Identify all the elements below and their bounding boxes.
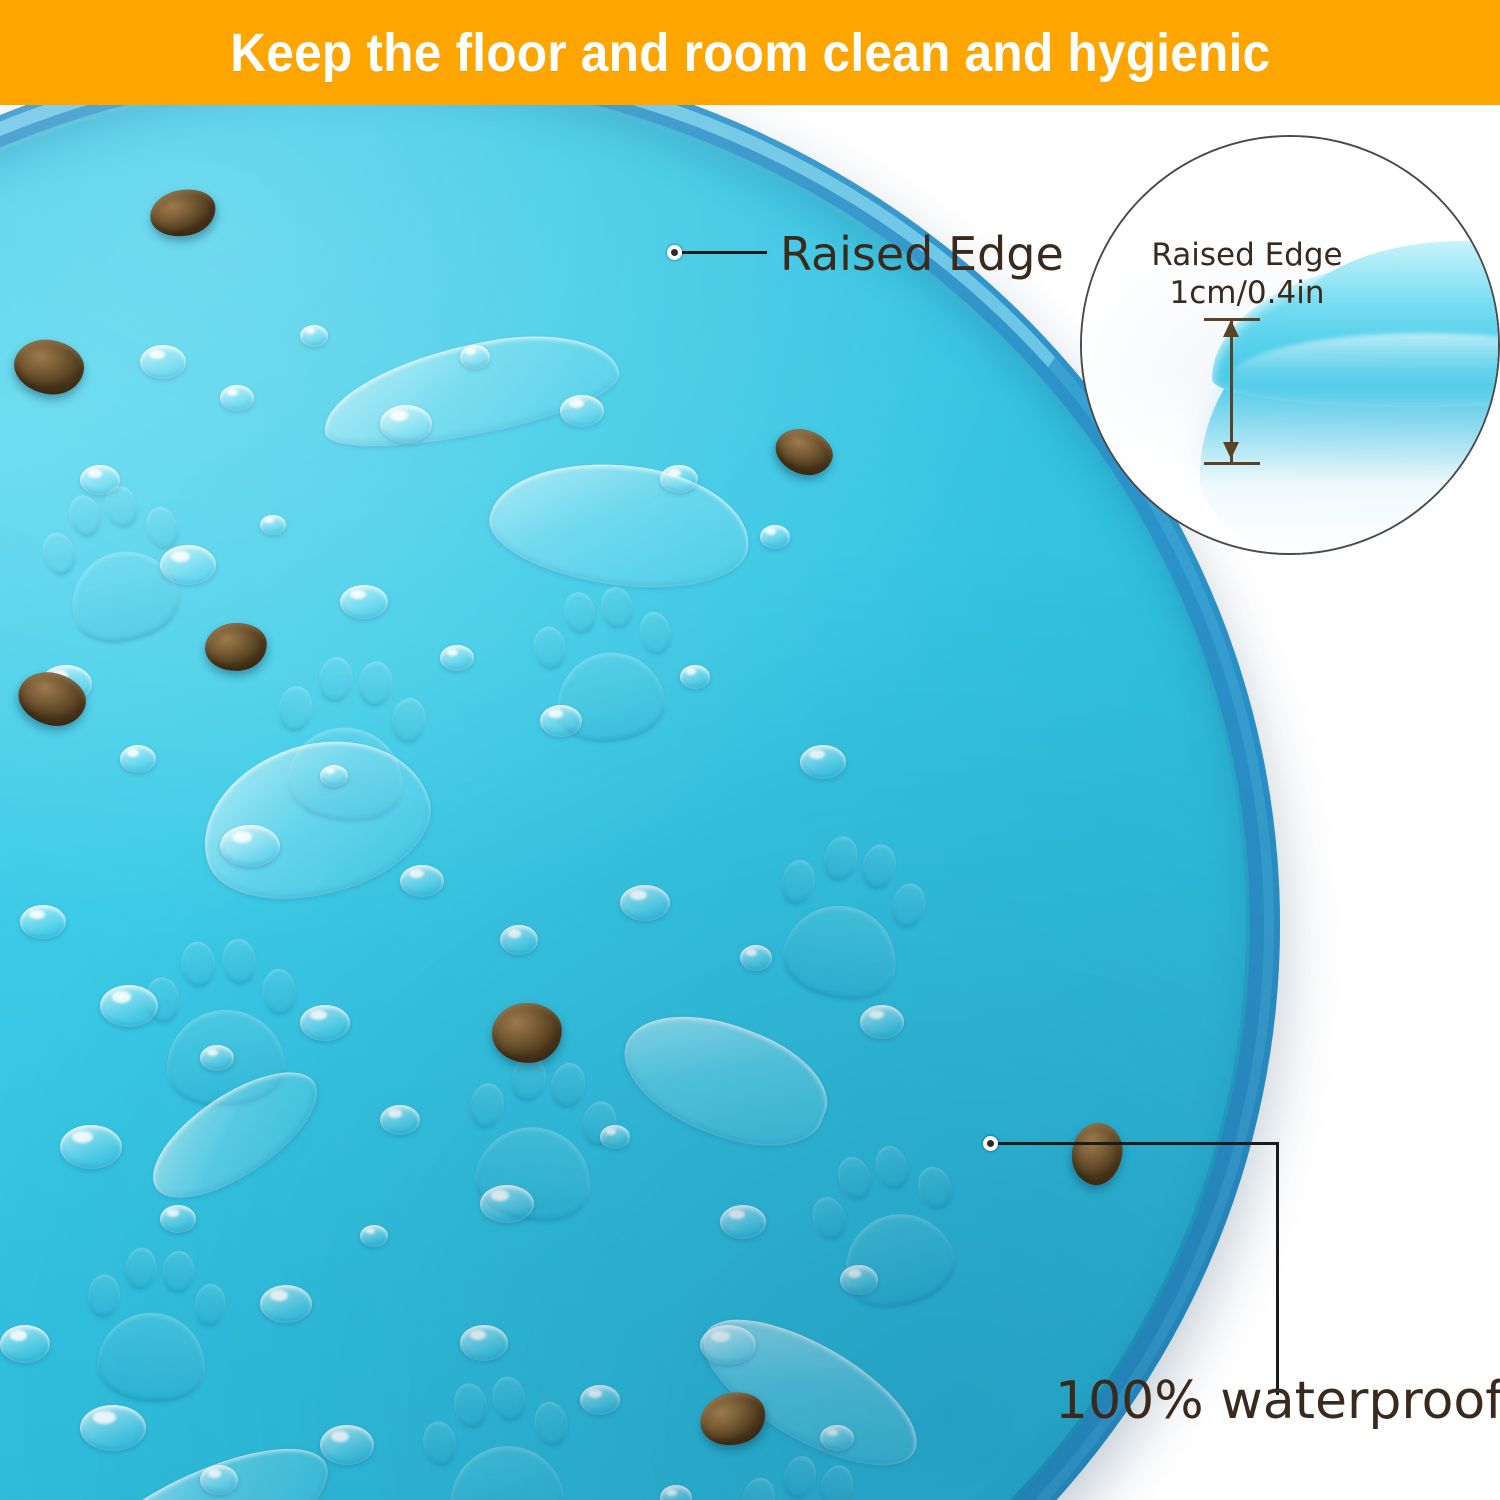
dimension-arrowhead-up — [1223, 320, 1239, 337]
waterproof-label: 100% waterproof — [1055, 1371, 1500, 1431]
raised-edge-label: Raised Edge — [780, 227, 1064, 281]
dimension-tick-bottom — [1204, 462, 1260, 465]
raised-edge-detail-inset: Raised Edge 1cm/0.4in — [1080, 135, 1500, 555]
banner-headline: Keep the floor and room clean and hygien… — [230, 22, 1270, 84]
header-banner: Keep the floor and room clean and hygien… — [0, 0, 1500, 105]
raised-edge-callout-dot — [667, 245, 682, 260]
inset-bottom-fade — [1082, 373, 1498, 553]
waterproof-leader-horizontal — [998, 1142, 1279, 1145]
inset-caption: Raised Edge 1cm/0.4in — [1122, 237, 1372, 313]
dimension-arrowhead-down — [1223, 442, 1239, 459]
raised-edge-leader-line — [682, 251, 767, 254]
dimension-arrow — [1202, 312, 1262, 472]
waterproof-leader-vertical — [1276, 1142, 1279, 1395]
mat-inner-surface — [0, 105, 1246, 1500]
inset-caption-line1: Raised Edge — [1122, 237, 1372, 275]
waterproof-callout-dot — [983, 1136, 998, 1151]
inset-caption-line2: 1cm/0.4in — [1122, 275, 1372, 313]
